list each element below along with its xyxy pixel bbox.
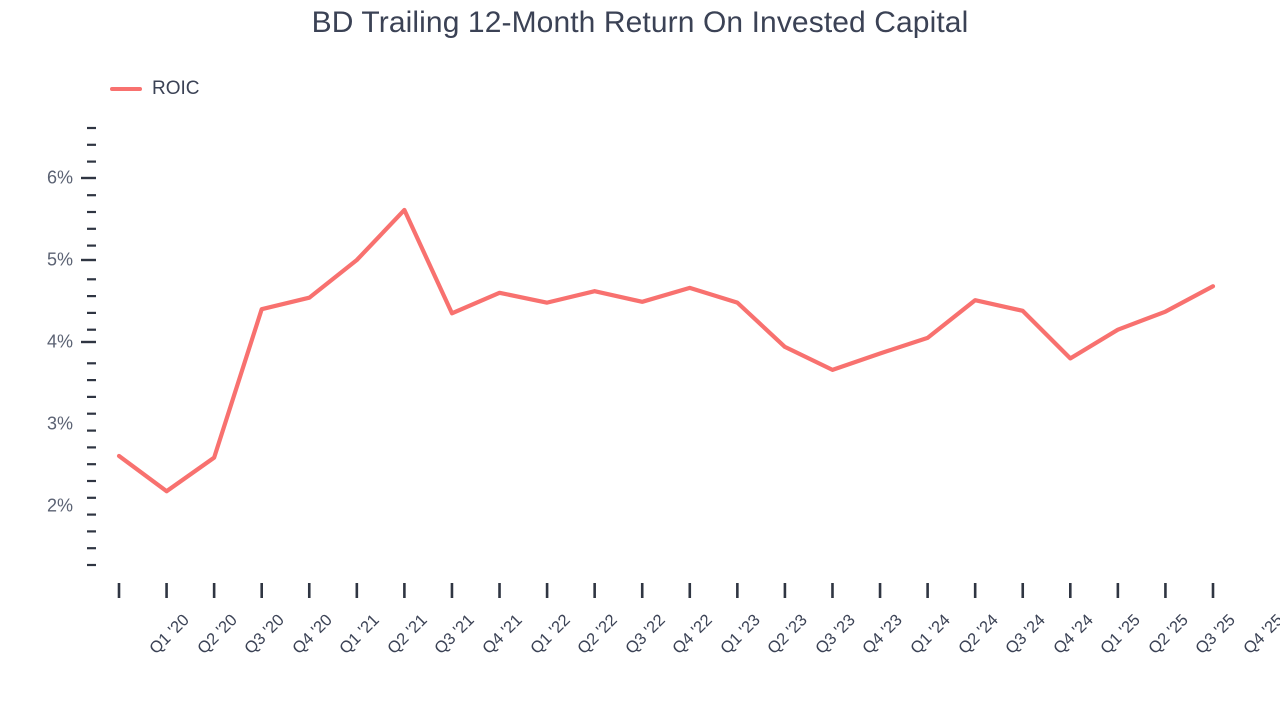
x-axis-tick-label: Q2 '22 [574, 611, 621, 658]
x-axis-tick-label: Q2 '20 [194, 611, 241, 658]
x-axis-tick-label: Q3 '20 [241, 611, 288, 658]
x-axis-tick-label: Q4 '25 [1240, 611, 1280, 658]
x-axis-tick-label: Q1 '25 [1097, 611, 1144, 658]
x-axis-tick-label: Q3 '21 [431, 611, 478, 658]
x-axis-tick-label: Q2 '24 [955, 611, 1002, 658]
x-axis-tick-label: Q4 '22 [669, 611, 716, 658]
x-axis-tick-label: Q1 '23 [717, 611, 764, 658]
x-axis-tick-label: Q1 '22 [527, 611, 574, 658]
chart-container: BD Trailing 12-Month Return On Invested … [0, 0, 1280, 720]
x-axis-tick-label: Q3 '23 [812, 611, 859, 658]
x-axis-tick-label: Q4 '20 [289, 611, 336, 658]
x-axis-tick-label: Q3 '25 [1193, 611, 1240, 658]
x-axis-tick-label: Q2 '21 [384, 611, 431, 658]
x-axis-tick-label: Q1 '24 [907, 611, 954, 658]
x-axis-tick-label: Q4 '21 [479, 611, 526, 658]
x-axis-tick-label: Q1 '20 [146, 611, 193, 658]
x-axis-tick-label: Q2 '23 [764, 611, 811, 658]
x-axis-labels: Q1 '20Q2 '20Q3 '20Q4 '20Q1 '21Q2 '21Q3 '… [0, 0, 1280, 720]
x-axis-tick-label: Q2 '25 [1145, 611, 1192, 658]
x-axis-tick-label: Q4 '24 [1050, 611, 1097, 658]
x-axis-tick-label: Q1 '21 [336, 611, 383, 658]
x-axis-tick-label: Q3 '24 [1002, 611, 1049, 658]
x-axis-tick-label: Q4 '23 [860, 611, 907, 658]
x-axis-tick-label: Q3 '22 [622, 611, 669, 658]
